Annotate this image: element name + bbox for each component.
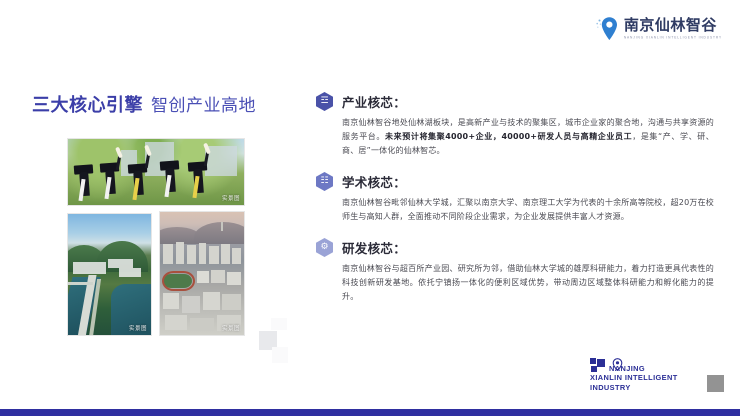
section-title: 研发核芯： bbox=[342, 238, 406, 257]
section-rnd-core: ⚙ 研发核芯： 南京仙林智谷与超百所产业园、研究所为邻，借助仙林大学城的雄厚科研… bbox=[316, 238, 714, 304]
industry-core-hex-glyph: ☲ bbox=[320, 97, 328, 106]
section-body-lead: 南京仙林智谷毗邻仙林大学城，汇聚以南京大学、南京理工大学为代表的十余所高等院校，… bbox=[342, 198, 714, 221]
section-body-lead: 南京仙林智谷与超百所产业园、研究所为邻，借助仙林大学城的雄厚科研能力，着力打造更… bbox=[342, 264, 714, 301]
graduation-photo: 实景图 bbox=[67, 138, 245, 206]
section-header: ☷ 学术核芯： bbox=[316, 172, 714, 191]
academic-core-hex-glyph: ☷ bbox=[320, 177, 328, 186]
section-header: ☲ 产业核芯： bbox=[316, 92, 714, 111]
page-title-strong: 三大核心引擎 bbox=[32, 91, 143, 117]
section-title: 学术核芯： bbox=[342, 172, 406, 191]
section-body: 南京仙林智谷与超百所产业园、研究所为邻，借助仙林大学城的雄厚科研能力，着力打造更… bbox=[342, 262, 714, 304]
rnd-core-hex-icon: ⚙ bbox=[316, 238, 333, 257]
bottom-accent-bar bbox=[0, 409, 740, 416]
page-title: 三大核心引擎 智创产业高地 bbox=[32, 91, 256, 117]
location-pin-icon bbox=[595, 16, 619, 42]
section-body: 南京仙林智谷毗邻仙林大学城，汇聚以南京大学、南京理工大学为代表的十余所高等院校，… bbox=[342, 196, 714, 224]
section-industry-core: ☲ 产业核芯： 南京仙林智谷地处仙林湖板块，是高新产业与技术的聚集区，城市企业家… bbox=[316, 92, 714, 158]
content-column: ☲ 产业核芯： 南京仙林智谷地处仙林湖板块，是高新产业与技术的聚集区，城市企业家… bbox=[316, 92, 714, 318]
page-title-light: 智创产业高地 bbox=[151, 91, 256, 116]
footer-logo-line3: INDUSTRY bbox=[590, 383, 678, 392]
header-logo-cn: 南京仙林智谷 bbox=[624, 18, 722, 33]
photo-caption: 实景图 bbox=[129, 324, 147, 332]
header-logo: 南京仙林智谷 NANJING XIANLIN INTELLIGENT INDUS… bbox=[595, 16, 722, 42]
slide-root: 南京仙林智谷 NANJING XIANLIN INTELLIGENT INDUS… bbox=[0, 0, 740, 416]
section-body-bold: 未来预计将集聚4000+企业，40000+研发人员与高精企业员工 bbox=[385, 132, 632, 141]
footer-logo-line2: XIANLIN INTELLIGENT bbox=[590, 373, 678, 382]
photo-caption: 实景图 bbox=[222, 194, 240, 202]
city-skyline-photo: 实景图 bbox=[159, 211, 245, 336]
section-academic-core: ☷ 学术核芯： 南京仙林智谷毗邻仙林大学城，汇聚以南京大学、南京理工大学为代表的… bbox=[316, 172, 714, 224]
header-logo-en: NANJING XIANLIN INTELLIGENT INDUSTRY bbox=[624, 36, 722, 40]
academic-core-hex-icon: ☷ bbox=[316, 172, 333, 191]
decorative-square-light bbox=[271, 318, 287, 330]
aerial-river-photo: 实景图 bbox=[67, 213, 152, 336]
decorative-square-light-2 bbox=[272, 347, 288, 363]
corner-decorative-square bbox=[707, 375, 724, 392]
footer-location-pin-icon bbox=[612, 358, 623, 371]
section-body: 南京仙林智谷地处仙林湖板块，是高新产业与技术的聚集区，城市企业家的聚合地，沟通与… bbox=[342, 116, 714, 158]
section-header: ⚙ 研发核芯： bbox=[316, 238, 714, 257]
rnd-core-hex-glyph: ⚙ bbox=[320, 243, 328, 252]
nanjing-squares-logo-icon bbox=[590, 358, 607, 373]
photo-caption: 实景图 bbox=[222, 324, 240, 332]
header-logo-text: 南京仙林智谷 NANJING XIANLIN INTELLIGENT INDUS… bbox=[624, 18, 722, 39]
industry-core-hex-icon: ☲ bbox=[316, 92, 333, 111]
section-title: 产业核芯： bbox=[342, 92, 406, 111]
footer-logo: NANJING XIANLIN INTELLIGENT INDUSTRY bbox=[590, 358, 678, 392]
